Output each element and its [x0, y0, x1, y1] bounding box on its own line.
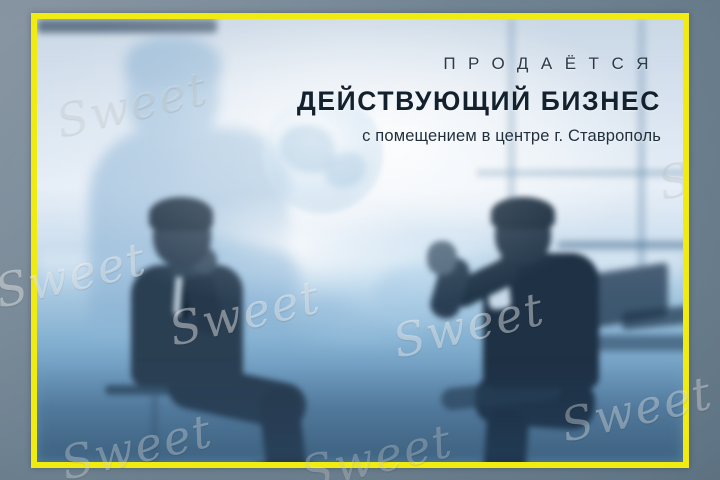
photo-canvas: ПРОДАЁТСЯ ДЕЙСТВУЮЩИЙ БИЗНЕС с помещение…	[37, 19, 683, 462]
window-mullion-horizontal	[477, 169, 683, 177]
right-man-hand	[427, 241, 457, 275]
foreground-shadow-band	[37, 365, 683, 462]
office-table-left	[37, 19, 217, 33]
advertisement-poster: ПРОДАЁТСЯ ДЕЙСТВУЮЩИЙ БИЗНЕС с помещение…	[0, 0, 720, 480]
ghost-portrait-hair	[125, 36, 221, 88]
yellow-border-frame: ПРОДАЁТСЯ ДЕЙСТВУЮЩИЙ БИЗНЕС с помещение…	[31, 13, 689, 468]
left-man-hair	[149, 197, 213, 231]
poster-subline: с помещением в центре г. Ставрополь	[297, 128, 661, 145]
poster-headline: ДЕЙСТВУЮЩИЙ БИЗНЕС	[297, 88, 661, 115]
poster-text-block: ПРОДАЁТСЯ ДЕЙСТВУЮЩИЙ БИЗНЕС с помещение…	[297, 55, 661, 144]
poster-kicker: ПРОДАЁТСЯ	[297, 55, 661, 72]
right-man-hair	[491, 197, 555, 229]
